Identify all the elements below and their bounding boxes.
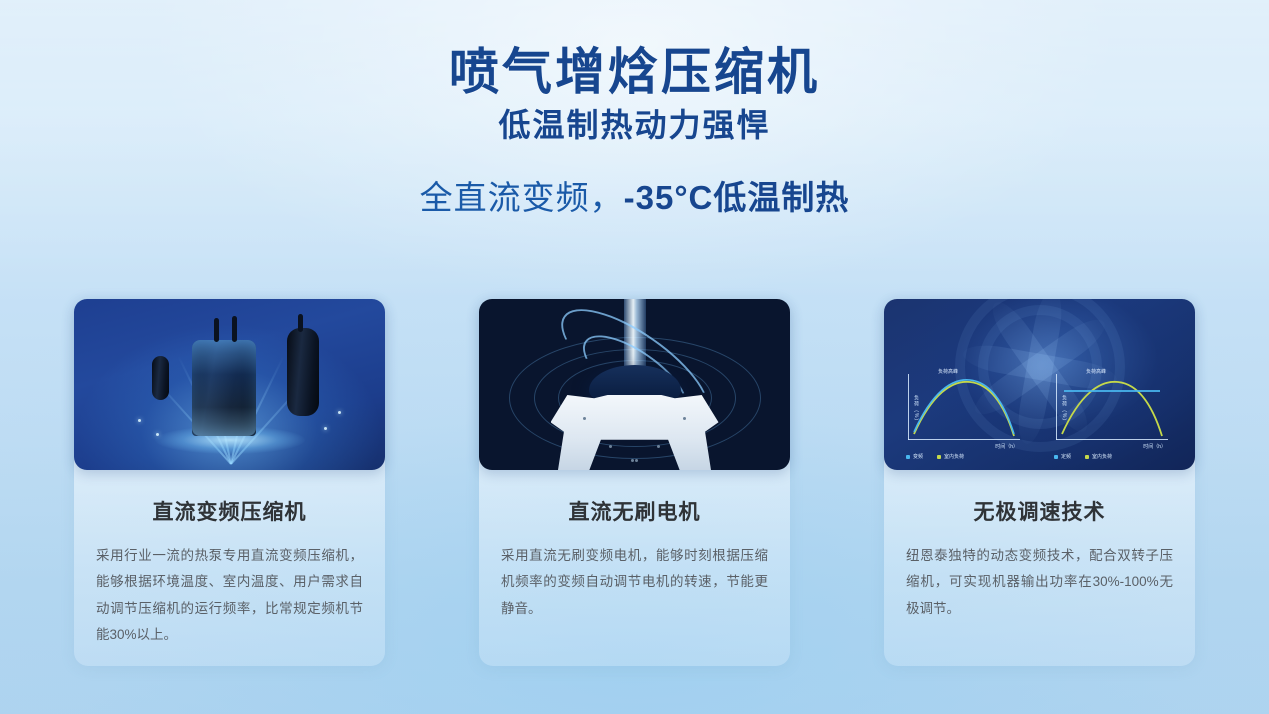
page-title: 喷气增焓压缩机 — [0, 44, 1269, 100]
chart-series-plot — [908, 374, 1020, 440]
chart-series-plot — [1056, 374, 1168, 440]
legend-label: 室内负荷 — [944, 453, 964, 460]
chart-x-label: 时间（h） — [995, 443, 1018, 450]
legend-item: 室内负荷 — [937, 453, 964, 460]
page-subtitle: 低温制热动力强悍 — [0, 106, 1269, 144]
legend-label: 变频 — [913, 453, 923, 460]
card-title: 无极调速技术 — [884, 496, 1195, 526]
card-title: 直流变频压缩机 — [74, 496, 385, 526]
legend-label: 定频 — [1061, 453, 1071, 460]
dc-brushless-motor-photo — [479, 299, 790, 470]
feature-card[interactable]: 直流无刷电机 采用直流无刷变频电机，能够时刻根据压缩机频率的变频自动调节电机的转… — [479, 299, 790, 666]
slide-root: 喷气增焓压缩机 低温制热动力强悍 全直流变频，-35°C低温制热 — [0, 0, 1269, 714]
legend-item: 定频 — [1054, 453, 1071, 460]
card-description: 采用直流无刷变频电机，能够时刻根据压缩机频率的变频自动调节电机的转速，节能更静音… — [501, 543, 768, 622]
feature-card-list: 直流变频压缩机 采用行业一流的热泵专用直流变频压缩机，能够根据环境温度、室内温度… — [0, 299, 1269, 666]
chart-legend: 定频 室内负荷 — [1054, 453, 1112, 460]
chart-legend: 变频 室内负荷 — [906, 453, 964, 460]
feature-card[interactable]: 直流变频压缩机 采用行业一流的热泵专用直流变频压缩机，能够根据环境温度、室内温度… — [74, 299, 385, 666]
header: 喷气增焓压缩机 低温制热动力强悍 全直流变频，-35°C低温制热 — [0, 0, 1269, 218]
tagline-prefix: 全直流变频， — [420, 179, 624, 216]
dc-inverter-compressor-photo — [74, 299, 385, 470]
mini-chart: 负荷高峰 负荷（%） 时间（h） 变频 室内负荷 — [896, 366, 1024, 458]
card-description: 纽恩泰独特的动态变频技术，配合双转子压缩机，可实现机器输出功率在30%-100%… — [906, 543, 1173, 622]
card-description: 采用行业一流的热泵专用直流变频压缩机，能够根据环境温度、室内温度、用户需求自动调… — [96, 543, 363, 648]
tagline: 全直流变频，-35°C低温制热 — [0, 178, 1269, 218]
mini-chart: 负荷高峰 负荷（%） 时间（h） 定频 室内负荷 — [1044, 366, 1172, 458]
legend-label: 室内负荷 — [1092, 453, 1112, 460]
stepless-speed-regulation-chart: 负荷高峰 负荷（%） 时间（h） 变频 室内负荷 负 — [884, 299, 1195, 470]
feature-card[interactable]: 负荷高峰 负荷（%） 时间（h） 变频 室内负荷 负 — [884, 299, 1195, 666]
tagline-highlight: -35°C低温制热 — [624, 179, 850, 216]
legend-item: 室内负荷 — [1085, 453, 1112, 460]
card-title: 直流无刷电机 — [479, 496, 790, 526]
legend-item: 变频 — [906, 453, 923, 460]
chart-x-label: 时间（h） — [1143, 443, 1166, 450]
